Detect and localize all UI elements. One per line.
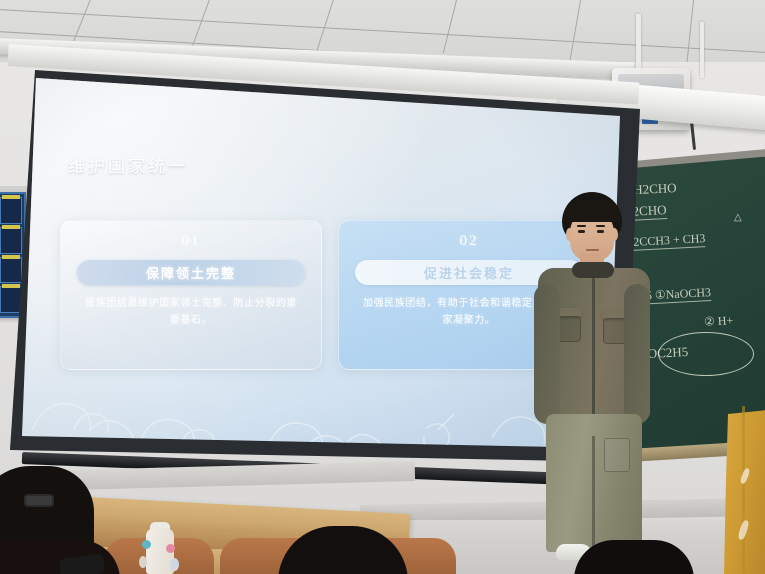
presenter-ear-left (566, 228, 573, 241)
card-heading-pill: 保障领土完整 (77, 260, 306, 285)
projector-mount-rod-2 (700, 22, 704, 78)
presenter-eye-left (578, 230, 585, 233)
bulletin-cell (0, 286, 22, 313)
bulletin-cell (0, 197, 22, 224)
presenter-mouth (586, 249, 599, 251)
bottle-charm-2 (166, 544, 175, 553)
presenter-pants-seam (592, 436, 595, 552)
presenter-hair-fringe (564, 200, 620, 222)
slide-title: 维护国家统一 (68, 152, 368, 177)
slide-card-01[interactable]: 01 保障领土完整 民族团结是维护国家领土完整、防止分裂的重要基石。 (60, 220, 322, 370)
presenter-eye-right (597, 230, 604, 233)
presenter-arm-right (624, 284, 650, 424)
slide-card-container: 01 保障领土完整 民族团结是维护国家领土完整、防止分裂的重要基石。 02 促进… (60, 220, 600, 370)
classroom-scene: CH3CH2CHO CH3CH2CHO CH3CH2CCH3 + CH3 H3C… (0, 0, 765, 574)
bottle-charm-4 (170, 558, 179, 571)
presenter-ear-right (611, 228, 618, 241)
presenter-cargo-pocket (604, 438, 630, 472)
presenter-arm-left (534, 284, 560, 424)
presenter-jacket-zip (592, 278, 595, 418)
presenter-collar (572, 262, 614, 278)
bulletin-cell (0, 257, 22, 284)
chalk-circle-annotation (658, 332, 754, 376)
card-number: 01 (61, 233, 321, 250)
bottle-charm-1 (142, 540, 151, 549)
chalk-triangle: △ (734, 212, 742, 223)
presenter (520, 192, 660, 574)
student-glasses (24, 494, 54, 507)
bottle-charm-3 (139, 556, 147, 568)
presenter-brow-left (577, 225, 586, 227)
projector-mount-rod (636, 14, 641, 76)
chalk-line-5: ② H+ (704, 313, 734, 330)
presenter-brow-right (596, 225, 605, 227)
podium-edge (742, 406, 745, 574)
card-body-text: 民族团结是维护国家领土完整、防止分裂的重要基石。 (82, 296, 300, 329)
bulletin-cell (0, 227, 22, 254)
